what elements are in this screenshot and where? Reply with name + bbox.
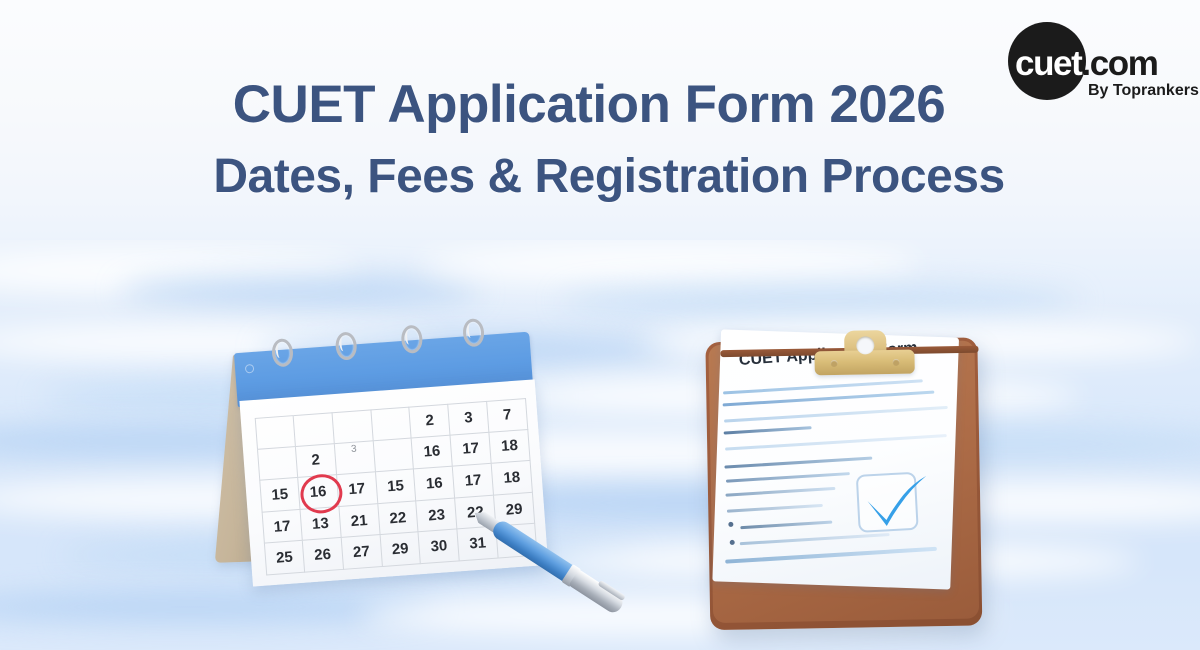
calendar-day-cell: 17 bbox=[451, 432, 492, 466]
calendar-day-cell: 22 bbox=[378, 501, 419, 535]
calendar-day-cell bbox=[293, 412, 334, 446]
title-line-2: Dates, Fees & Registration Process bbox=[0, 148, 1200, 206]
calendar-day-cell: 17 bbox=[262, 510, 303, 544]
clipboard-illustration: CUET Application Form bbox=[695, 317, 1006, 642]
calendar-day-cell bbox=[255, 415, 296, 449]
cuet-com-logo[interactable]: cuet.com By Toprankers bbox=[1002, 16, 1182, 112]
calendar-day-cell: 15 bbox=[259, 478, 300, 512]
calendar-day-cell: 15 bbox=[376, 470, 417, 504]
cuet-application-form-banner: CUET Application Form 2026 Dates, Fees &… bbox=[0, 0, 1200, 650]
calendar-day-cell bbox=[257, 447, 298, 481]
calendar-day-cell bbox=[371, 407, 412, 441]
clipboard-rivet-icon bbox=[893, 359, 900, 366]
calendar-day-cell: 2 bbox=[410, 404, 451, 438]
calendar-day-cell: 29 bbox=[380, 533, 421, 567]
calendar-day-cell: 2 bbox=[296, 444, 337, 478]
form-bullet-icon bbox=[730, 540, 735, 545]
calendar-day-cell: 18 bbox=[490, 430, 531, 464]
calendar-day-cell: 16 bbox=[412, 435, 453, 469]
logo-tagline: By Toprankers bbox=[1088, 82, 1199, 100]
calendar-day-cell: 25 bbox=[264, 541, 305, 575]
calendar-day-cell: 13 bbox=[300, 507, 341, 541]
logo-wordmark: cuet.com bbox=[1015, 46, 1157, 82]
calendar-day-cell: 17 bbox=[337, 472, 378, 506]
clipboard-clip bbox=[814, 330, 915, 376]
calendar-day-cell: 18 bbox=[492, 461, 533, 495]
calendar-day-cell: 7 bbox=[487, 398, 528, 432]
checkmark-icon bbox=[854, 462, 936, 536]
calendar-day-cell: 27 bbox=[341, 535, 382, 569]
calendar-day-cell bbox=[332, 409, 373, 443]
calendar-day-cell: 16 bbox=[414, 467, 455, 501]
form-bullet-icon bbox=[728, 522, 733, 527]
logo-word-com: .com bbox=[1081, 44, 1157, 83]
logo-word-cuet: cuet bbox=[1015, 44, 1081, 83]
calendar-day-cell: 3 bbox=[448, 401, 489, 435]
calendar-day-cell: 16 bbox=[298, 475, 339, 509]
calendar-day-cell: 26 bbox=[303, 538, 344, 572]
calendar-day-cell: 3 bbox=[335, 441, 376, 475]
calendar-day-cell bbox=[373, 438, 414, 472]
calendar-day-cell: 17 bbox=[453, 464, 494, 498]
clipboard-rivet-icon bbox=[831, 360, 838, 367]
calendar-day-cell: 21 bbox=[339, 504, 380, 538]
calendar-day-cell: 23 bbox=[417, 498, 458, 532]
